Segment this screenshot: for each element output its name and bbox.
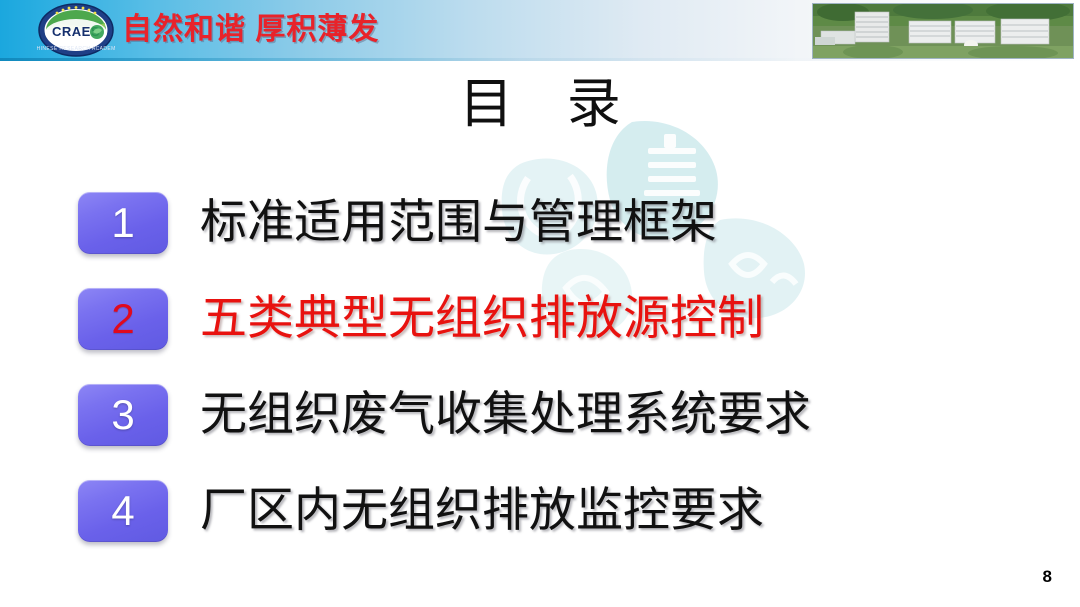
toc-number-badge-3[interactable]: 3 — [78, 384, 168, 446]
toc-number-4: 4 — [111, 490, 134, 532]
slide-header-band: CRAES CHINESE RESEARCH ACADEMY 自然和谐 厚积薄发 — [0, 0, 1080, 61]
toc-label-1: 标准适用范围与管理框架 — [200, 184, 717, 260]
page-title: 目 录 — [0, 72, 1080, 136]
header-slogan: 自然和谐 厚积薄发 — [122, 12, 379, 48]
toc-number-badge-4[interactable]: 4 — [78, 480, 168, 542]
svg-text:CHINESE RESEARCH ACADEMY: CHINESE RESEARCH ACADEMY — [37, 46, 115, 52]
campus-aerial-photo — [812, 3, 1074, 59]
toc-number-badge-1[interactable]: 1 — [78, 192, 168, 254]
toc-label-4: 厂区内无组织排放监控要求 — [200, 472, 764, 548]
toc-label-2: 五类典型无组织排放源控制 — [200, 280, 764, 356]
toc-number-badge-2[interactable]: 2 — [78, 288, 168, 350]
toc-number-2: 2 — [111, 298, 134, 340]
toc-item-4[interactable]: 4 厂区内无组织排放监控要求 — [0, 474, 1080, 570]
toc-item-2[interactable]: 2 五类典型无组织排放源控制 — [0, 282, 1080, 378]
toc-number-1: 1 — [111, 202, 134, 244]
craes-logo-icon: CRAES CHINESE RESEARCH ACADEMY — [37, 2, 115, 58]
toc-item-1[interactable]: 1 标准适用范围与管理框架 — [0, 186, 1080, 282]
toc-label-3: 无组织废气收集处理系统要求 — [200, 376, 811, 452]
toc-number-3: 3 — [111, 394, 134, 436]
presentation-slide: CRAES CHINESE RESEARCH ACADEMY 自然和谐 厚积薄发 — [0, 0, 1080, 607]
table-of-contents: 1 标准适用范围与管理框架 2 五类典型无组织排放源控制 3 无组织废气收集处理… — [0, 186, 1080, 570]
page-number: 8 — [1043, 567, 1052, 587]
toc-item-3[interactable]: 3 无组织废气收集处理系统要求 — [0, 378, 1080, 474]
